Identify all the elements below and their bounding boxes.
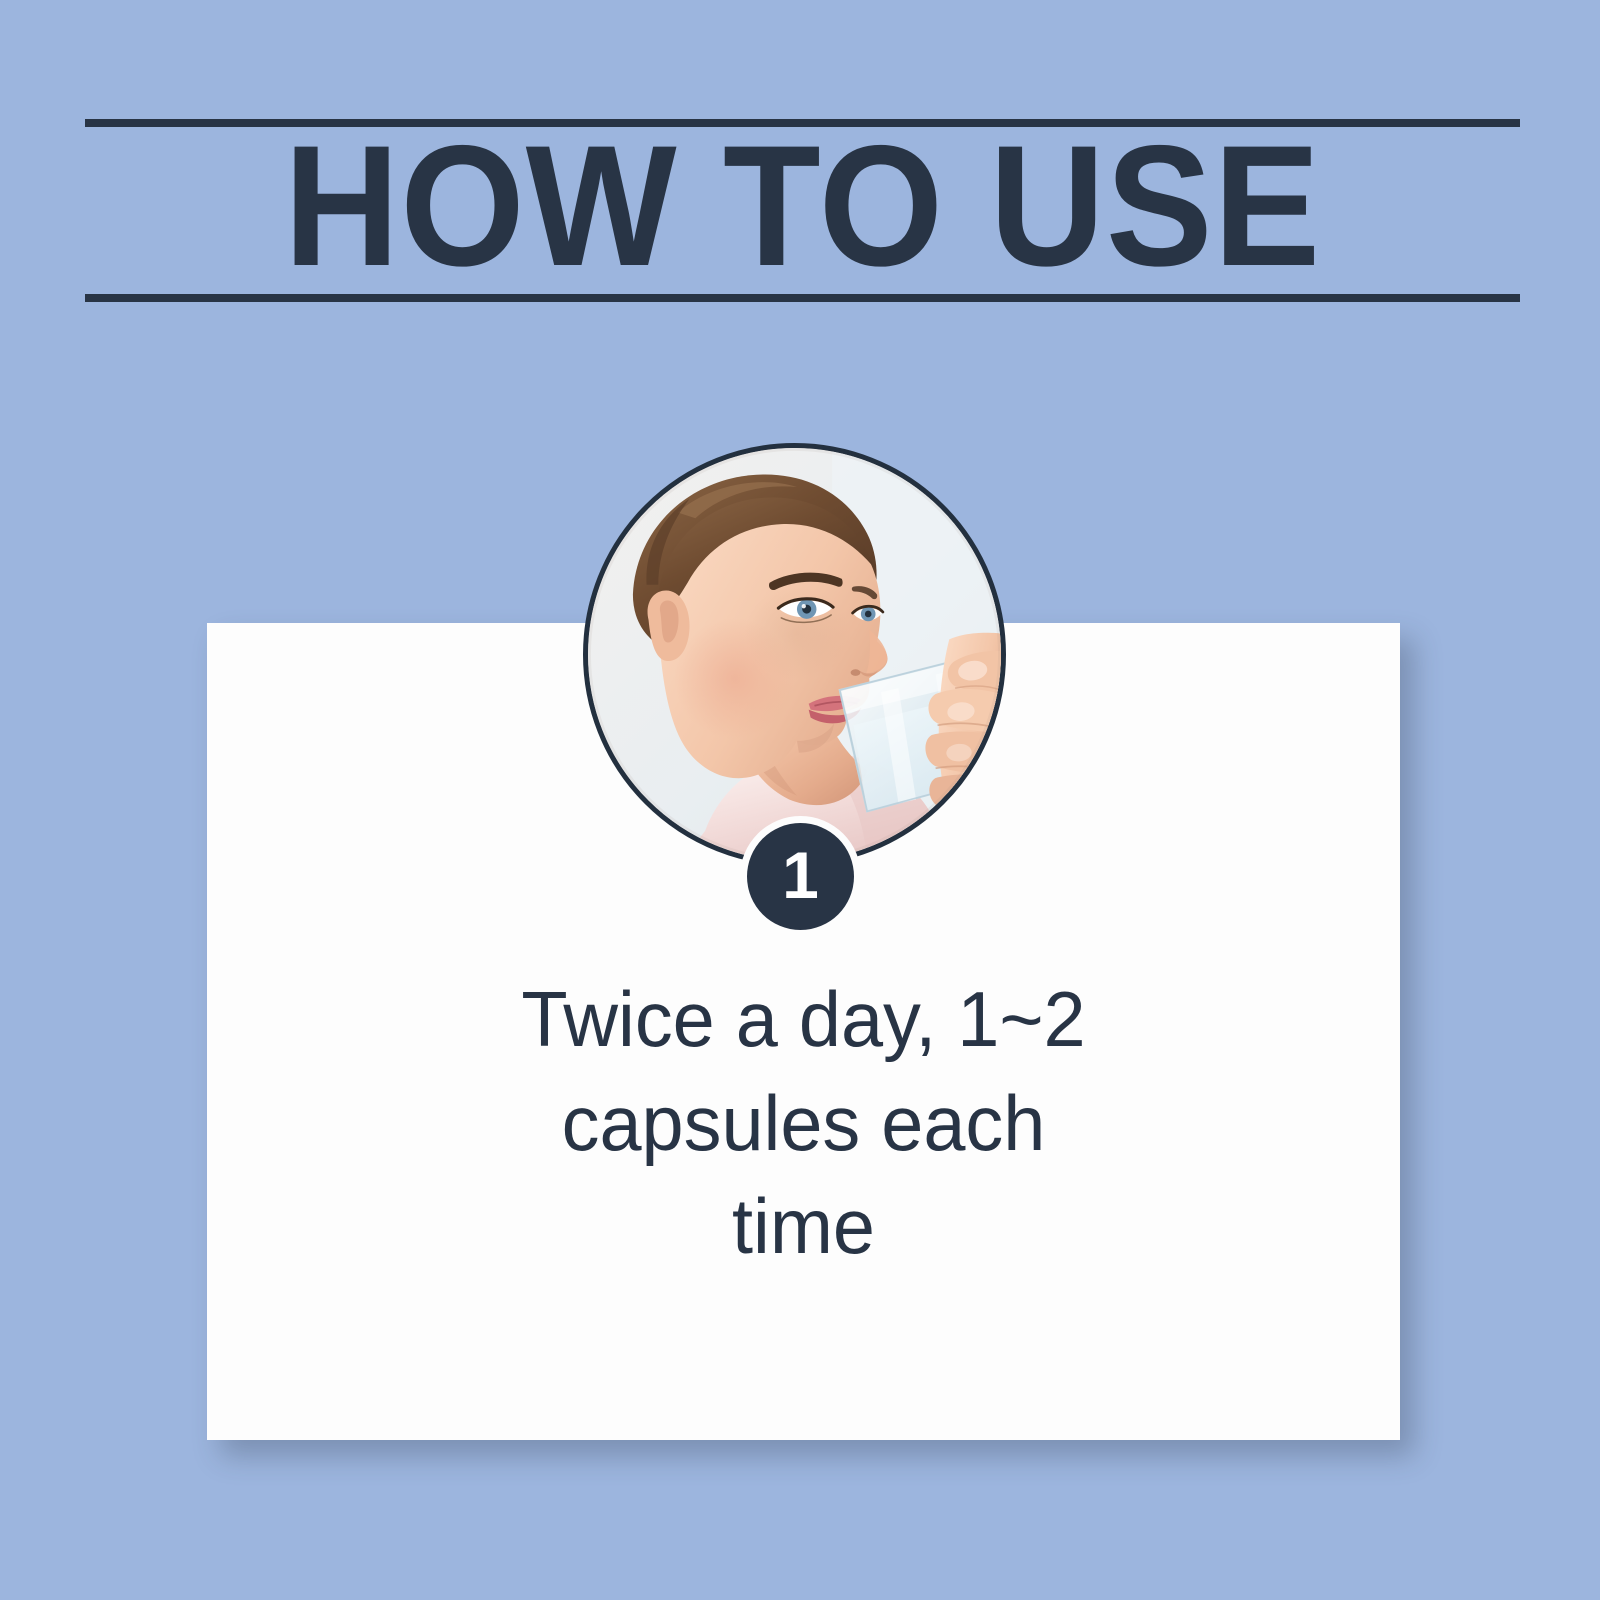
header-block: HOW TO USE bbox=[85, 112, 1520, 304]
page-title: HOW TO USE bbox=[135, 112, 1470, 304]
header-rule-bottom bbox=[85, 294, 1520, 302]
how-to-use-slide: HOW TO USE Twice a day, 1~2 capsules eac… bbox=[0, 0, 1600, 1600]
step-photo bbox=[583, 443, 1006, 866]
step-badge: 1 bbox=[747, 823, 854, 930]
step-description: Twice a day, 1~2 capsules each time bbox=[225, 968, 1382, 1279]
step-badge-number: 1 bbox=[782, 842, 819, 912]
